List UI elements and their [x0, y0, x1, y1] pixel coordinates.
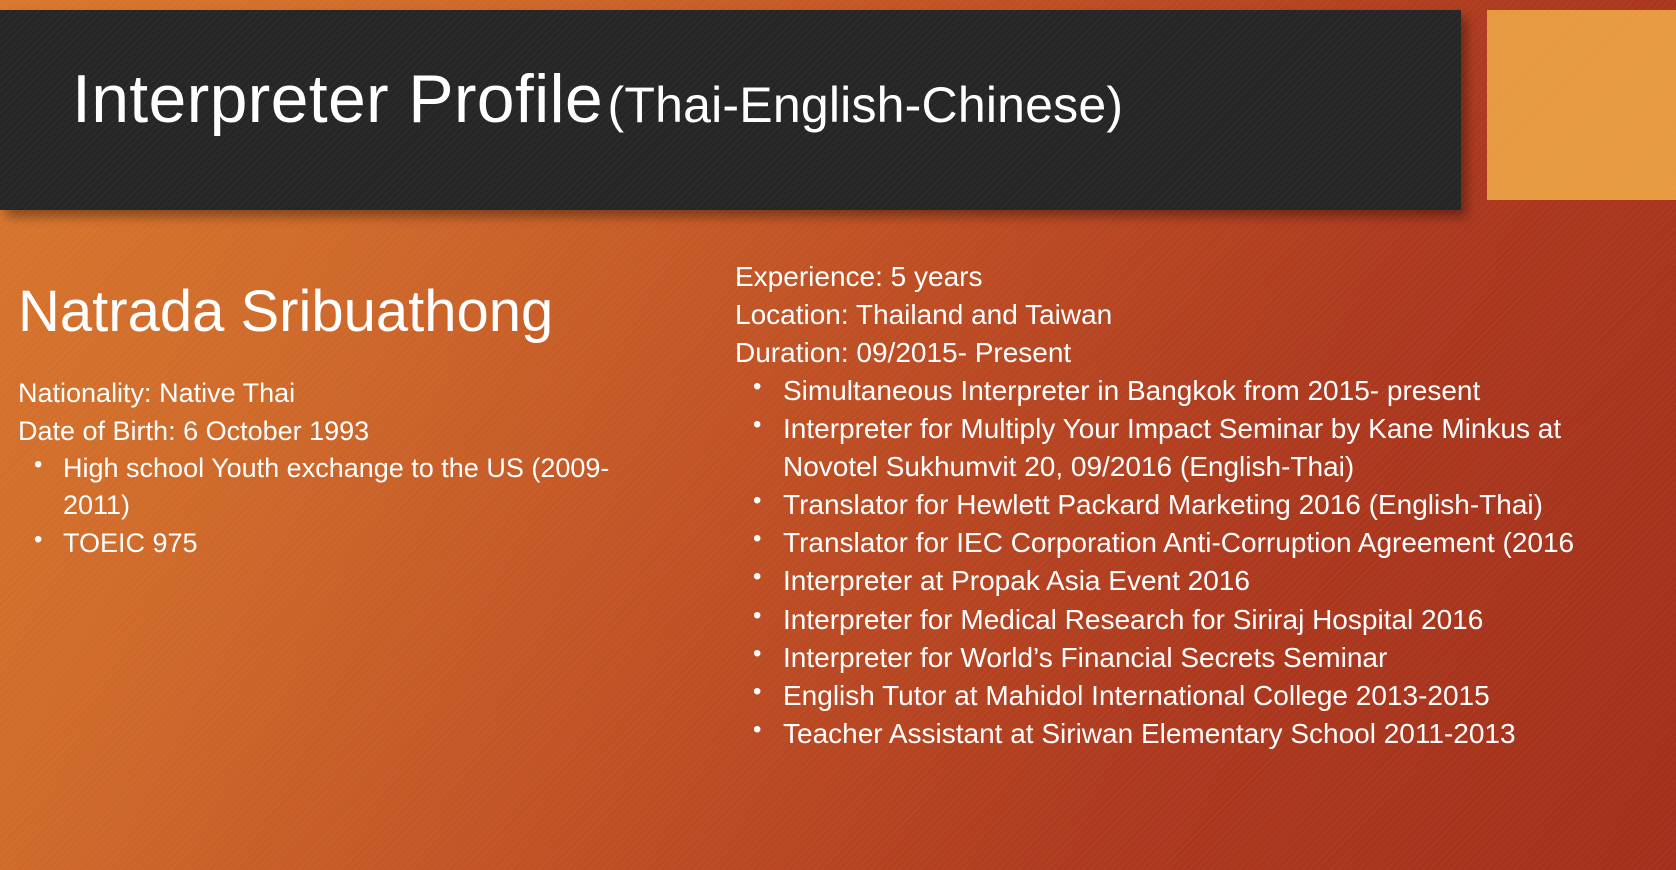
- person-name: Natrada Sribuathong: [18, 280, 668, 344]
- nationality-line: Nationality: Native Thai: [18, 374, 668, 412]
- right-bullet-list: Simultaneous Interpreter in Bangkok from…: [735, 372, 1645, 752]
- list-item: Interpreter for Multiply Your Impact Sem…: [735, 410, 1645, 484]
- list-item: Teacher Assistant at Siriwan Elementary …: [735, 715, 1645, 752]
- duration-line: Duration: 09/2015- Present: [735, 334, 1645, 372]
- date-of-birth-line: Date of Birth: 6 October 1993: [18, 412, 668, 450]
- location-line: Location: Thailand and Taiwan: [735, 296, 1645, 334]
- left-bullet-list: High school Youth exchange to the US (20…: [18, 450, 668, 561]
- list-item: Interpreter at Propak Asia Event 2016: [735, 562, 1645, 599]
- title-bar: Interpreter Profile (Thai-English-Chines…: [0, 10, 1461, 210]
- title-main-text: Interpreter Profile: [72, 61, 603, 137]
- right-column: Experience: 5 years Location: Thailand a…: [735, 258, 1645, 754]
- accent-block: [1487, 10, 1676, 200]
- list-item: Translator for Hewlett Packard Marketing…: [735, 486, 1645, 523]
- list-item: High school Youth exchange to the US (20…: [18, 450, 668, 522]
- list-item: TOEIC 975: [18, 525, 668, 561]
- list-item: Translator for IEC Corporation Anti-Corr…: [735, 524, 1645, 561]
- list-item: Interpreter for Medical Research for Sir…: [735, 601, 1645, 638]
- list-item: English Tutor at Mahidol International C…: [735, 677, 1645, 714]
- title-sub-text: (Thai-English-Chinese): [608, 77, 1124, 133]
- left-column: Natrada Sribuathong Nationality: Native …: [18, 280, 668, 563]
- slide: Interpreter Profile (Thai-English-Chines…: [0, 0, 1676, 870]
- list-item: Interpreter for World’s Financial Secret…: [735, 639, 1645, 676]
- list-item: Simultaneous Interpreter in Bangkok from…: [735, 372, 1645, 409]
- slide-title: Interpreter Profile (Thai-English-Chines…: [72, 60, 1123, 138]
- experience-line: Experience: 5 years: [735, 258, 1645, 296]
